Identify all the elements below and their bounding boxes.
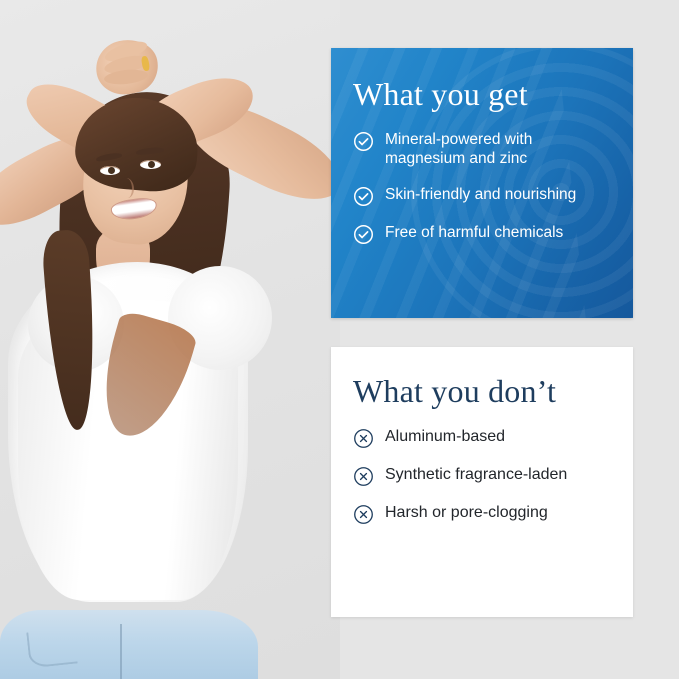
list-item-label: Synthetic fragrance-laden — [385, 465, 567, 485]
jeans-seam — [120, 624, 122, 679]
list-item: Synthetic fragrance-laden — [353, 465, 611, 487]
what-you-dont-heading: What you don’t — [353, 375, 611, 409]
list-item-label: Aluminum-based — [385, 427, 505, 447]
pupil-right — [148, 161, 155, 168]
model-figure — [0, 0, 340, 679]
what-you-get-card: What you get Mineral-powered with magnes… — [331, 48, 633, 318]
list-item-label: Free of harmful chemicals — [385, 223, 563, 243]
what-you-dont-card: What you don’t Aluminum-based — [331, 347, 633, 617]
x-circle-icon — [353, 466, 374, 487]
list-item-label: Mineral-powered with magnesium and zinc — [385, 130, 611, 169]
list-item-label: Harsh or pore-clogging — [385, 503, 548, 523]
x-circle-icon — [353, 428, 374, 449]
list-item: Harsh or pore-clogging — [353, 503, 611, 525]
nose — [120, 178, 134, 198]
product-infographic: What you get Mineral-powered with magnes… — [0, 0, 679, 679]
list-item: Free of harmful chemicals — [353, 223, 611, 245]
what-you-dont-list: Aluminum-based Synthetic fragrance-laden — [353, 427, 611, 525]
list-item: Aluminum-based — [353, 427, 611, 449]
check-circle-icon — [353, 186, 374, 207]
model-photo — [0, 0, 340, 679]
x-circle-icon — [353, 504, 374, 525]
jeans-pocket — [26, 628, 78, 669]
check-circle-icon — [353, 131, 374, 152]
list-item-label: Skin-friendly and nourishing — [385, 185, 576, 205]
list-item: Mineral-powered with magnesium and zinc — [353, 130, 611, 169]
what-you-get-list: Mineral-powered with magnesium and zinc … — [353, 130, 611, 245]
what-you-get-heading: What you get — [353, 78, 611, 112]
list-item: Skin-friendly and nourishing — [353, 185, 611, 207]
pupil-left — [108, 167, 115, 174]
check-circle-icon — [353, 224, 374, 245]
